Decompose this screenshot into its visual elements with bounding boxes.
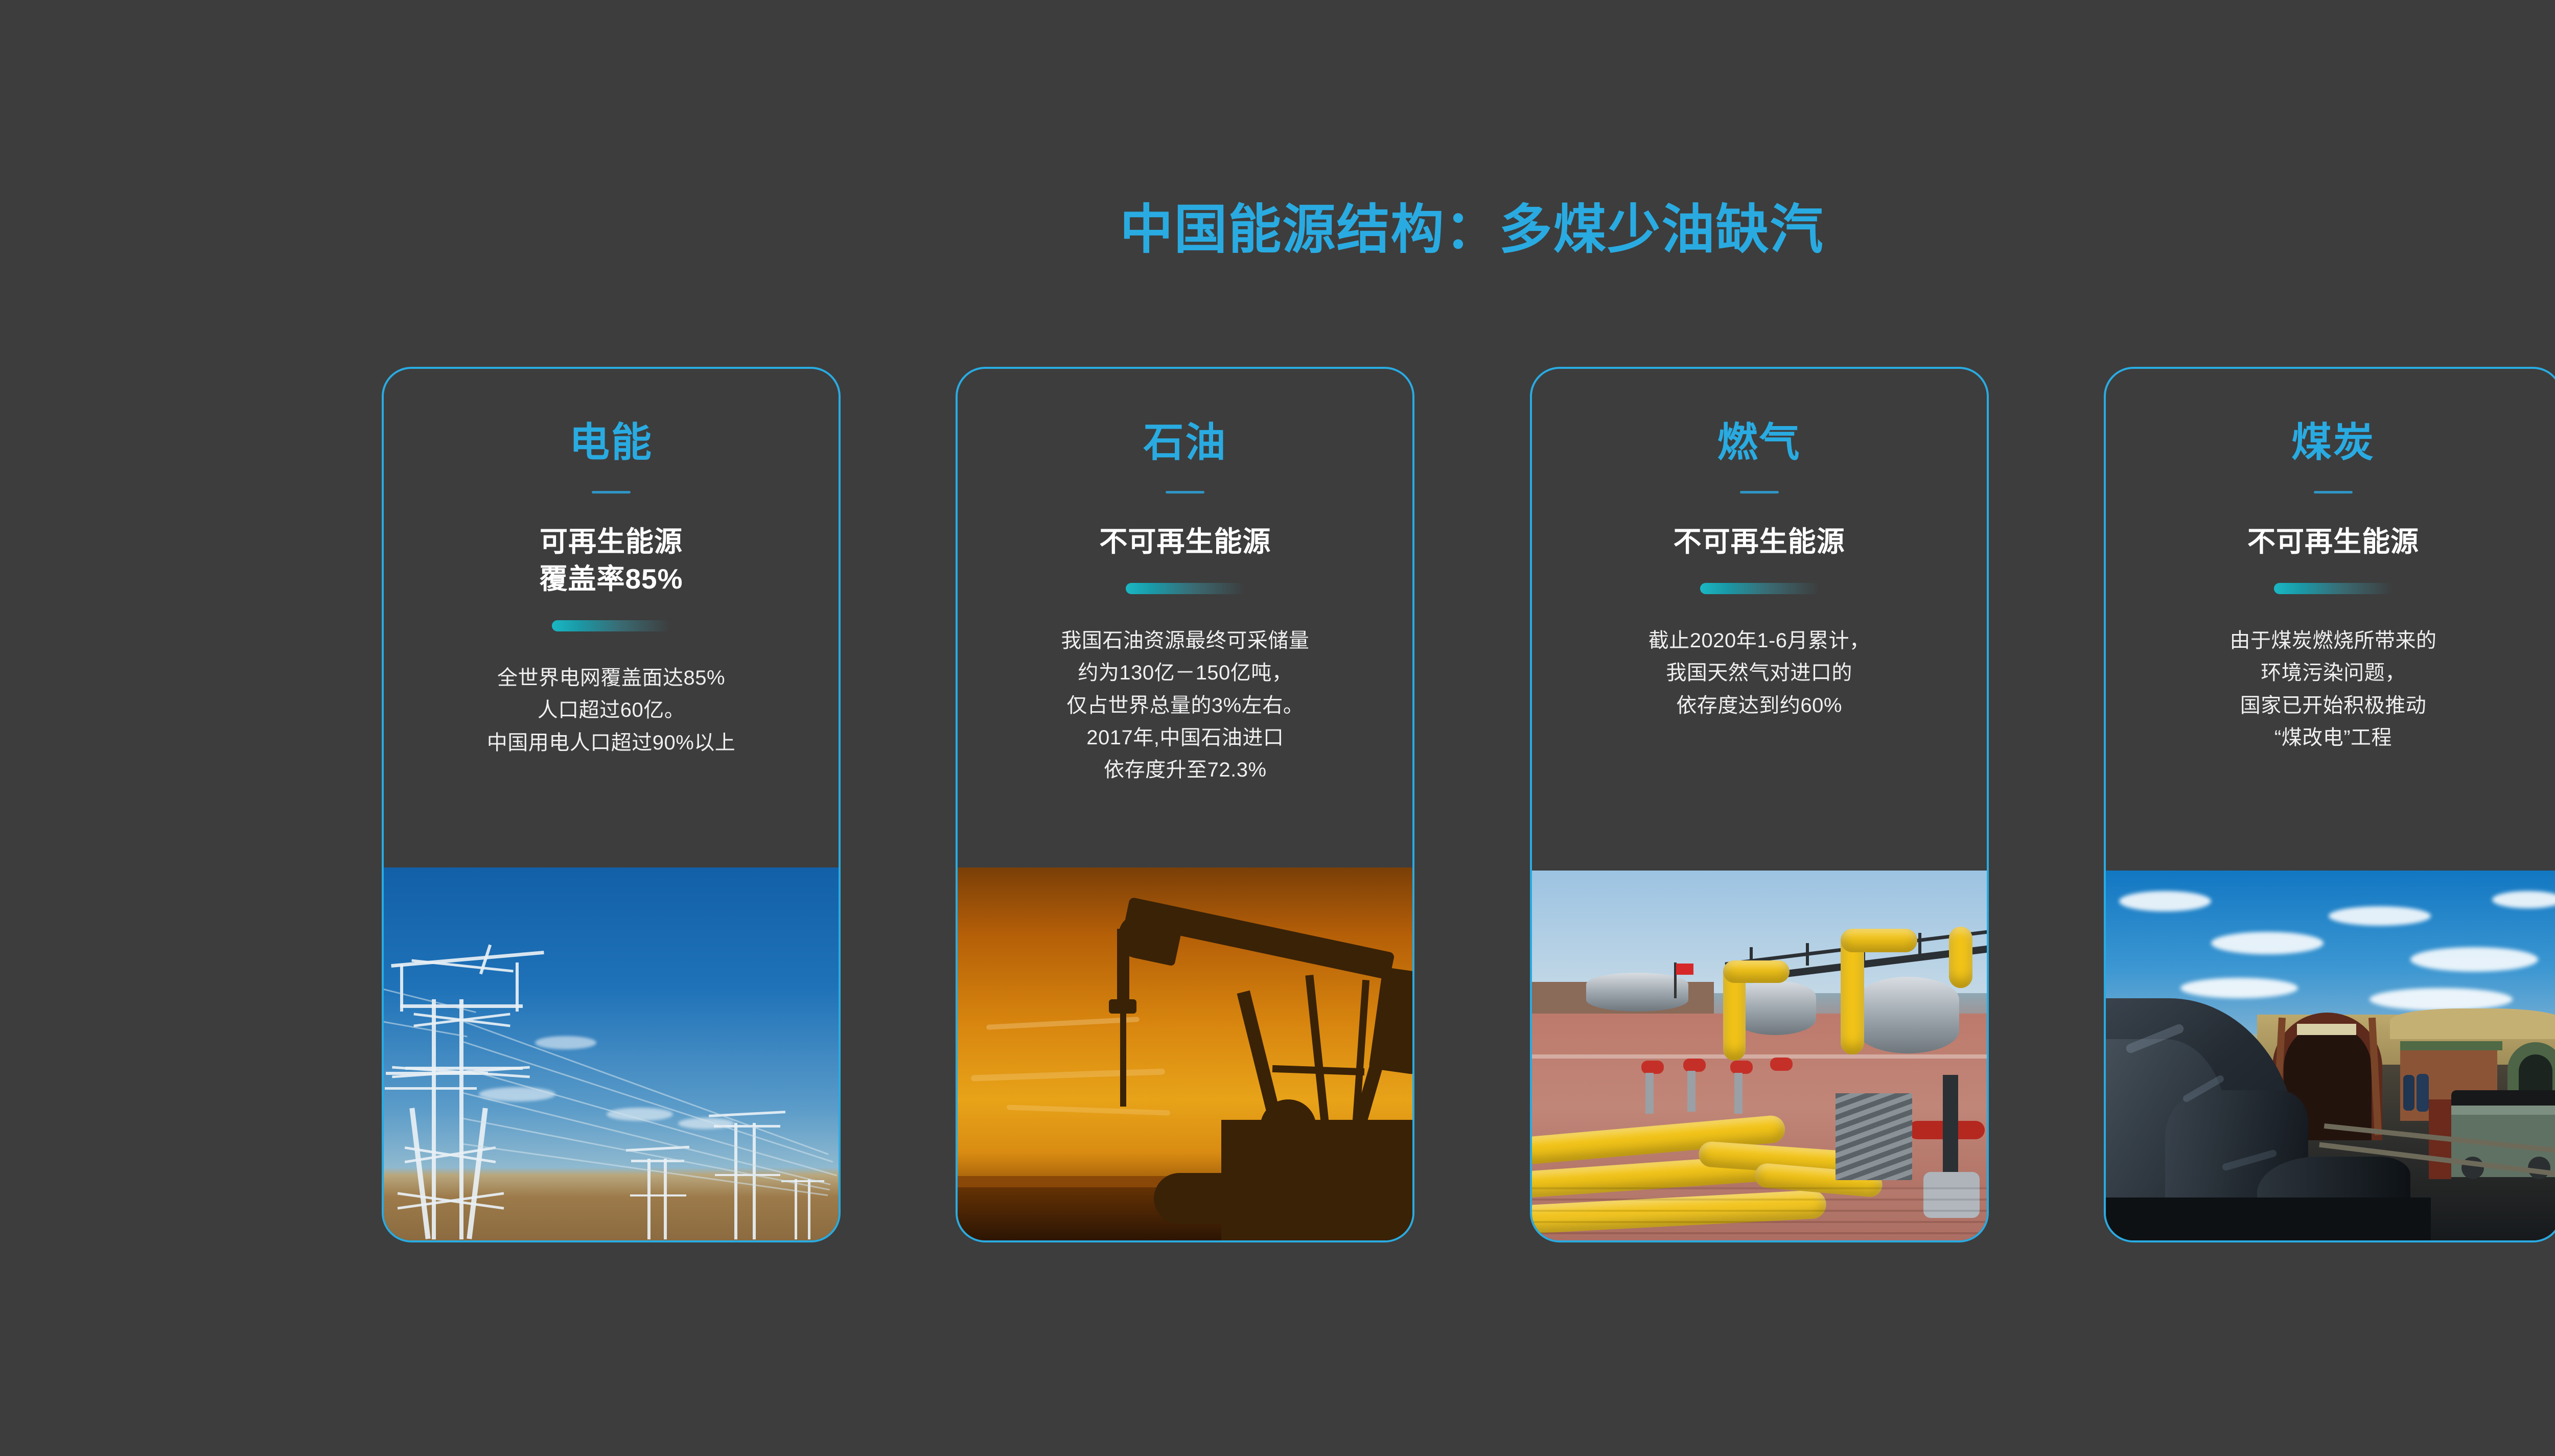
- card-photo-gas-pipeline-facility: [1530, 871, 1989, 1242]
- body-line-1: 由于煤炭燃烧所带来的: [2124, 625, 2543, 657]
- card-subtitle-electricity: 可再生能源 覆盖率85%: [539, 523, 683, 598]
- energy-cards-row: 电能 可再生能源 覆盖率85% 全世界电网覆盖面达85% 人口超过60亿。 中国…: [382, 367, 2555, 1242]
- title-divider: [2314, 491, 2353, 494]
- subtitle-line-1: 不可再生能源: [1674, 523, 1845, 560]
- card-subtitle-oil: 不可再生能源: [1099, 523, 1271, 560]
- card-body-coal: 由于煤炭燃烧所带来的 环境污染问题， 国家已开始积极推动 “煤改电”工程: [2124, 625, 2543, 754]
- card-body-electricity: 全世界电网覆盖面达85% 人口超过60亿。 中国用电人口超过90%以上: [402, 662, 821, 759]
- body-line-1: 我国石油资源最终可采储量: [975, 625, 1395, 657]
- subtitle-line-1: 可再生能源: [539, 523, 683, 560]
- body-line-3: 中国用电人口超过90%以上: [402, 727, 821, 759]
- card-body-oil: 我国石油资源最终可采储量 约为130亿－150亿吨， 仅占世界总量的3%左右。 …: [975, 625, 1395, 786]
- energy-card-oil[interactable]: 石油 不可再生能源 我国石油资源最终可采储量 约为130亿－150亿吨， 仅占世…: [956, 367, 1414, 1242]
- page-title: 中国能源结构：多煤少油缺汽: [0, 198, 2555, 262]
- body-line-5: 依存度升至72.3%: [975, 754, 1395, 786]
- accent-gradient-bar: [2274, 583, 2393, 594]
- accent-gradient-bar: [1700, 583, 1819, 594]
- body-line-3: 国家已开始积极推动: [2124, 690, 2543, 722]
- energy-card-electricity[interactable]: 电能 可再生能源 覆盖率85% 全世界电网覆盖面达85% 人口超过60亿。 中国…: [382, 367, 841, 1242]
- card-title-electricity: 电能: [569, 422, 653, 462]
- title-divider: [1166, 491, 1204, 494]
- body-line-4: “煤改电”工程: [2124, 722, 2543, 754]
- subtitle-line-1: 不可再生能源: [2247, 523, 2419, 560]
- accent-gradient-bar: [552, 620, 670, 631]
- title-divider: [592, 491, 631, 494]
- title-divider: [1740, 491, 1779, 494]
- body-line-2: 约为130亿－150亿吨，: [975, 657, 1395, 689]
- energy-card-coal[interactable]: 煤炭 不可再生能源 由于煤炭燃烧所带来的 环境污染问题， 国家已开始积极推动 “…: [2104, 367, 2555, 1242]
- card-title-coal: 煤炭: [2291, 422, 2375, 462]
- card-photo-coal-mine-entrance: [2104, 871, 2555, 1242]
- card-body-gas: 截止2020年1-6月累计， 我国天然气对进口的 依存度达到约60%: [1550, 625, 1969, 722]
- subtitle-line-2: 覆盖率85%: [539, 560, 683, 598]
- energy-card-gas[interactable]: 燃气 不可再生能源 截止2020年1-6月累计， 我国天然气对进口的 依存度达到…: [1530, 367, 1989, 1242]
- body-line-1: 全世界电网覆盖面达85%: [402, 662, 821, 694]
- card-title-gas: 燃气: [1717, 422, 1801, 462]
- card-photo-power-transmission-towers: [382, 867, 841, 1242]
- card-photo-oil-pumpjack-sunset: [956, 867, 1414, 1242]
- slide-canvas: 中国能源结构：多煤少油缺汽 电能 可再生能源 覆盖率85% 全世界电网覆盖面达8…: [0, 0, 2555, 1456]
- body-line-1: 截止2020年1-6月累计，: [1550, 625, 1969, 657]
- body-line-4: 2017年,中国石油进口: [975, 722, 1395, 754]
- card-subtitle-gas: 不可再生能源: [1674, 523, 1845, 560]
- body-line-2: 人口超过60亿。: [402, 694, 821, 726]
- card-subtitle-coal: 不可再生能源: [2247, 523, 2419, 560]
- subtitle-line-1: 不可再生能源: [1099, 523, 1271, 560]
- body-line-2: 环境污染问题，: [2124, 657, 2543, 689]
- body-line-3: 仅占世界总量的3%左右。: [975, 690, 1395, 722]
- body-line-2: 我国天然气对进口的: [1550, 657, 1969, 689]
- accent-gradient-bar: [1126, 583, 1244, 594]
- card-title-oil: 石油: [1143, 422, 1227, 462]
- body-line-3: 依存度达到约60%: [1550, 690, 1969, 722]
